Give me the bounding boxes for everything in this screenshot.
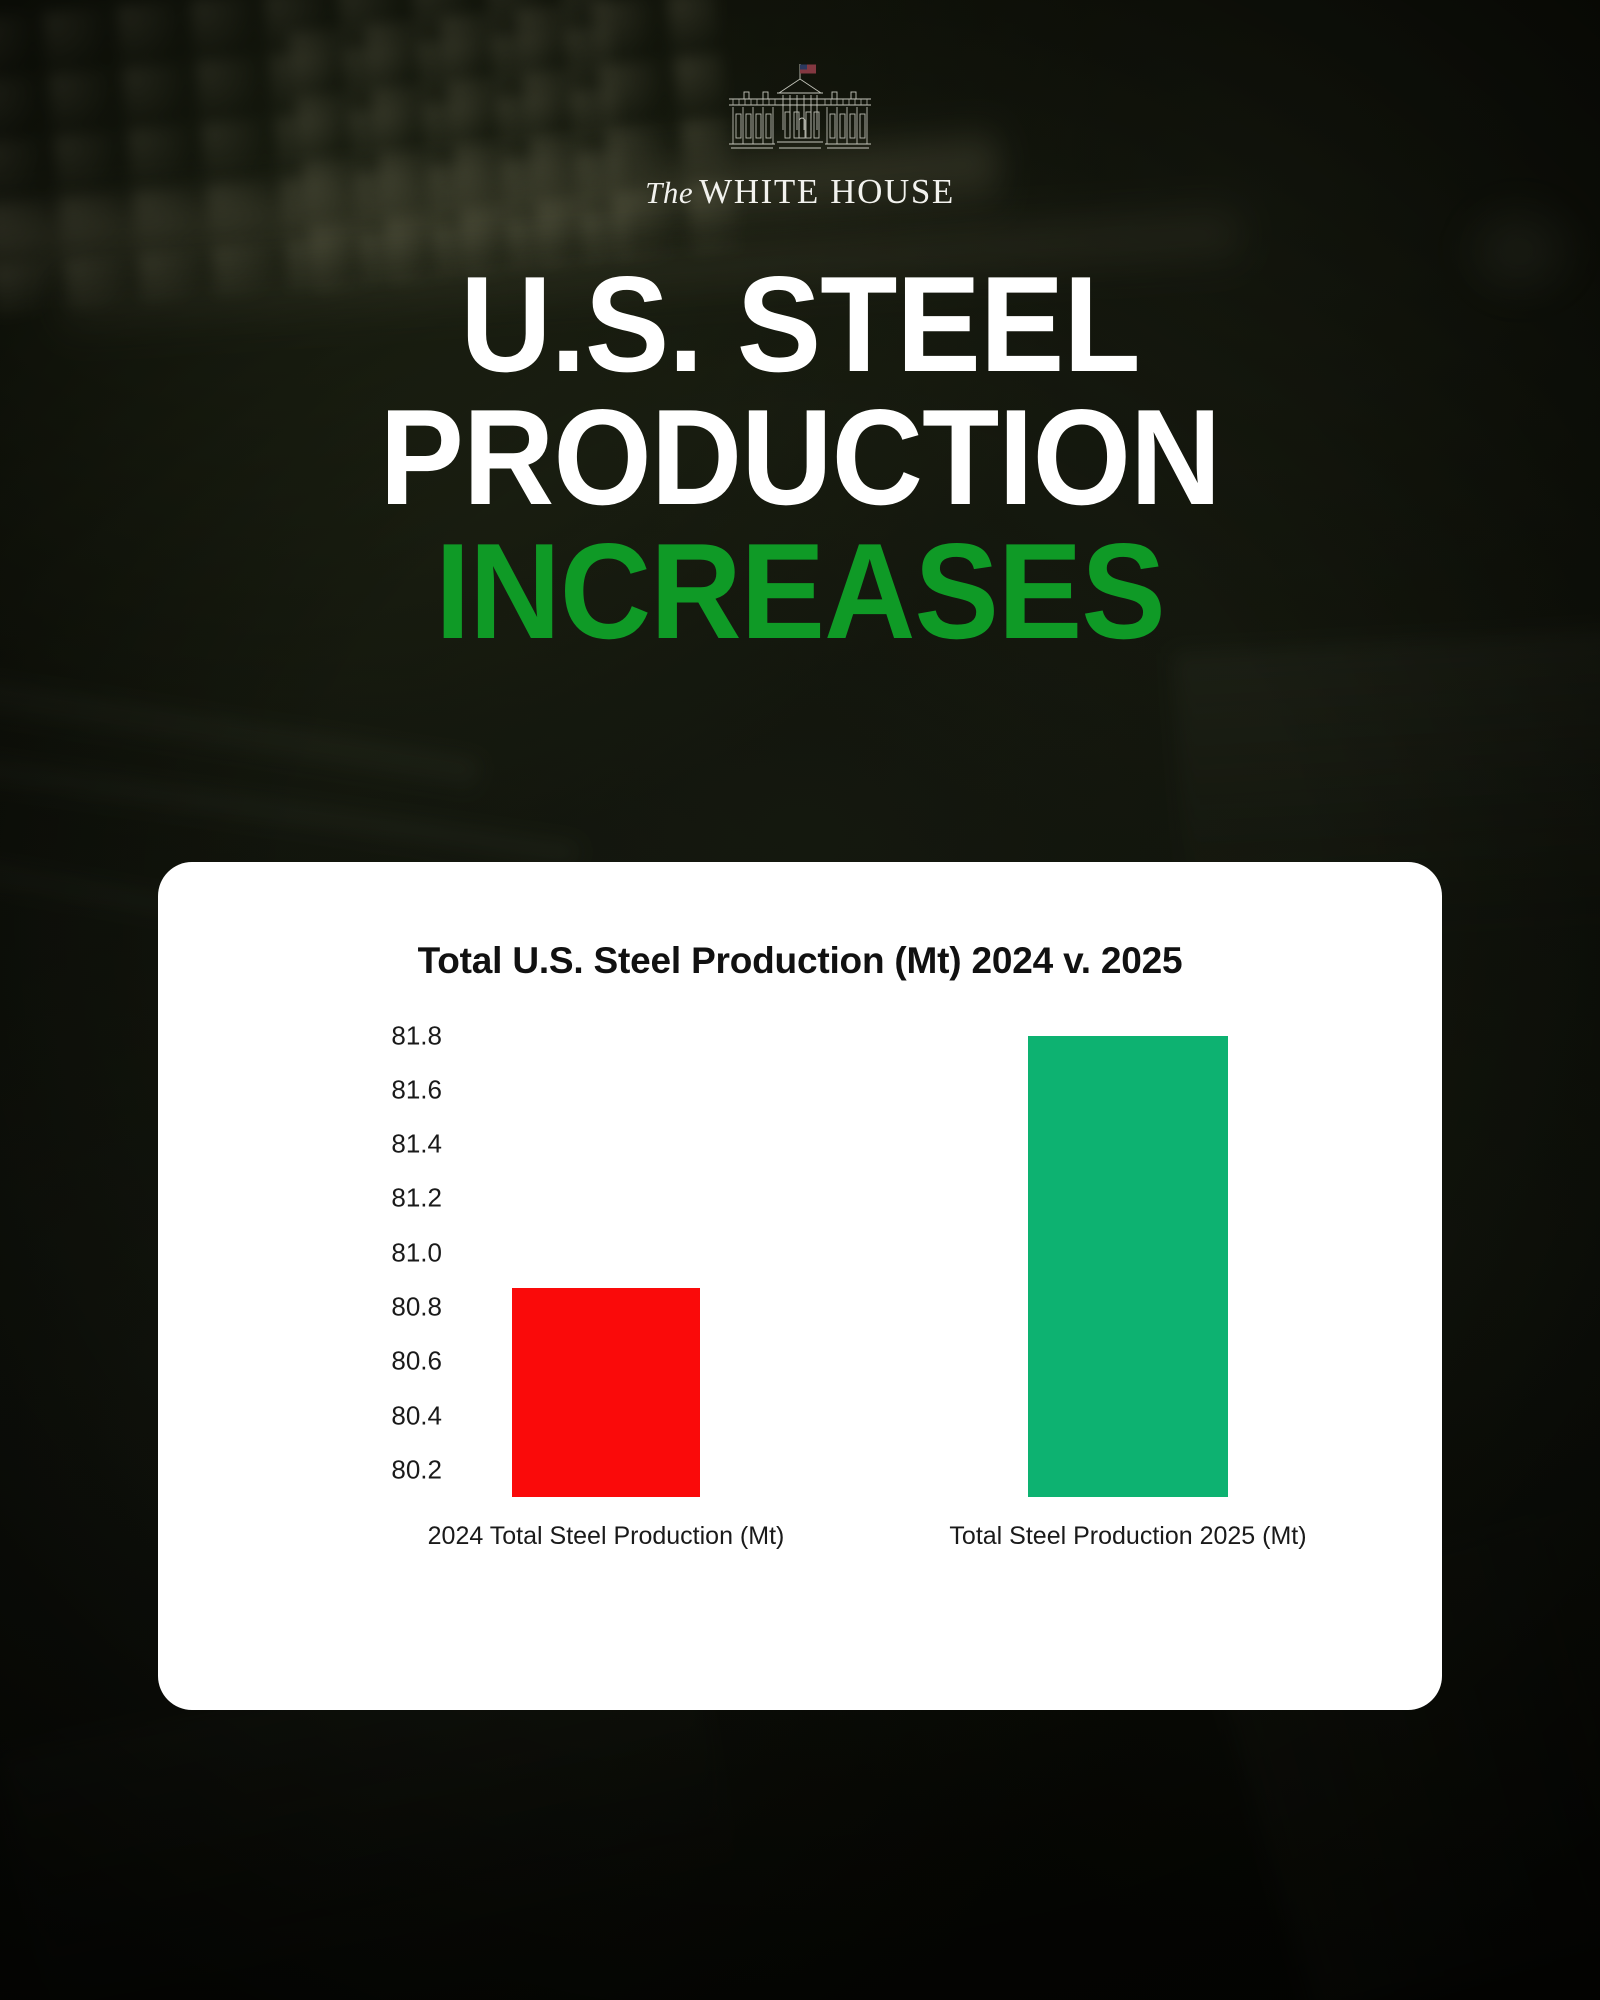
bar-2024[interactable] xyxy=(512,1288,700,1497)
x-axis-tick-labels: 2024 Total Steel Production (Mt) Total S… xyxy=(458,1522,1418,1572)
bar-2025[interactable] xyxy=(1028,1036,1228,1497)
y-axis-tick: 81.4 xyxy=(302,1129,442,1160)
x-axis-label-2025: Total Steel Production 2025 (Mt) xyxy=(949,1522,1306,1551)
y-axis-tick: 81.6 xyxy=(302,1074,442,1105)
chart-card: Total U.S. Steel Production (Mt) 2024 v.… xyxy=(158,862,1442,1710)
y-axis-tick: 80.6 xyxy=(302,1346,442,1377)
headline-line-2: PRODUCTION xyxy=(56,391,1544,524)
page-title: U.S. STEEL PRODUCTION INCREASES xyxy=(56,258,1544,658)
y-axis-tick: 80.8 xyxy=(302,1292,442,1323)
headline-line-1: U.S. STEEL xyxy=(56,258,1544,391)
white-house-brand-lockup: TheWHITE HOUSE xyxy=(0,62,1600,212)
headline-line-3: INCREASES xyxy=(56,525,1544,658)
y-axis-tick: 81.2 xyxy=(302,1183,442,1214)
chart-plot-area: 81.881.681.481.281.080.880.680.480.2 202… xyxy=(158,1022,1442,1622)
y-axis-tick: 80.4 xyxy=(302,1400,442,1431)
chart-title: Total U.S. Steel Production (Mt) 2024 v.… xyxy=(158,940,1442,982)
white-house-wordmark: TheWHITE HOUSE xyxy=(645,172,955,212)
wordmark-name: WHITE HOUSE xyxy=(699,172,955,211)
bar-series xyxy=(458,1022,1418,1497)
y-axis-tick: 81.0 xyxy=(302,1237,442,1268)
white-house-building-icon xyxy=(711,62,889,158)
x-axis-label-2024: 2024 Total Steel Production (Mt) xyxy=(428,1522,785,1551)
y-axis-tick: 80.2 xyxy=(302,1454,442,1485)
poster-root: TheWHITE HOUSE U.S. STEEL PRODUCTION INC… xyxy=(0,0,1600,2000)
wordmark-the: The xyxy=(645,175,693,210)
y-axis-tick: 81.8 xyxy=(302,1020,442,1051)
